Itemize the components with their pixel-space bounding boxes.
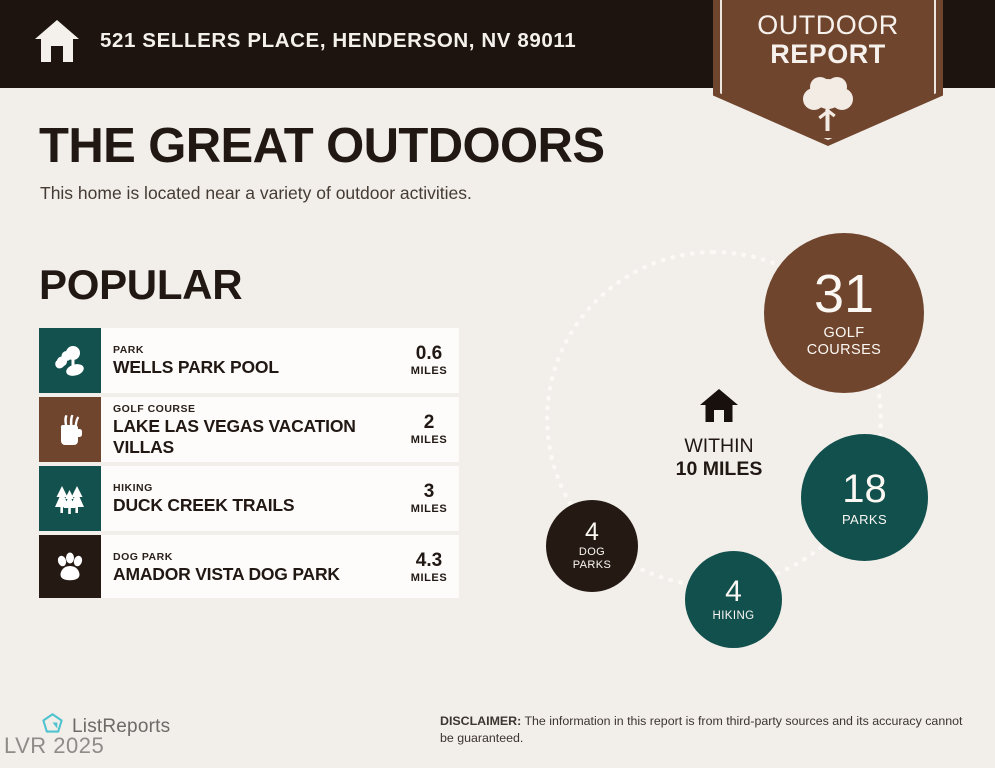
disclaimer-label: DISCLAIMER: bbox=[440, 714, 521, 728]
distance-unit: MILES bbox=[405, 433, 453, 447]
list-item-distance: 4.3 MILES bbox=[401, 550, 453, 585]
list-item-category: GOLF COURSE bbox=[113, 402, 401, 416]
distance-value: 3 bbox=[405, 481, 453, 502]
header-content: 521 SELLERS PLACE, HENDERSON, NV 89011 bbox=[33, 18, 576, 64]
bubble-dog-parks: 4 DOG PARKS bbox=[546, 500, 638, 592]
distance-unit: MILES bbox=[405, 364, 453, 378]
bubble-label-line1: HIKING bbox=[712, 609, 754, 623]
distance-unit: MILES bbox=[405, 571, 453, 585]
badge-title-line2: REPORT bbox=[713, 39, 943, 70]
bubble-parks: 18 PARKS bbox=[801, 434, 928, 561]
within-line2: 10 MILES bbox=[655, 458, 783, 481]
watermark-text: LVR 2025 bbox=[4, 733, 104, 759]
list-item-distance: 2 MILES bbox=[401, 412, 453, 447]
property-address: 521 SELLERS PLACE, HENDERSON, NV 89011 bbox=[100, 29, 576, 53]
golf-bag-icon bbox=[39, 397, 101, 462]
bubble-value: 4 bbox=[725, 577, 742, 607]
outdoor-report-badge: OUTDOOR REPORT bbox=[713, 0, 943, 146]
list-item[interactable]: DOG PARK AMADOR VISTA DOG PARK 4.3 MILES bbox=[39, 535, 459, 598]
bubble-value: 18 bbox=[842, 469, 887, 509]
disclaimer: DISCLAIMER: The information in this repo… bbox=[440, 713, 970, 747]
tree-icon bbox=[798, 74, 858, 137]
distance-value: 0.6 bbox=[405, 343, 453, 364]
list-item-category: DOG PARK bbox=[113, 550, 401, 564]
list-item-name: AMADOR VISTA DOG PARK bbox=[113, 564, 401, 585]
outdoor-report-page: 521 SELLERS PLACE, HENDERSON, NV 89011 O… bbox=[0, 0, 995, 768]
distance-value: 2 bbox=[405, 412, 453, 433]
badge-title-line1: OUTDOOR bbox=[713, 10, 943, 41]
bubble-label-line1: GOLF bbox=[823, 325, 864, 342]
park-tree-icon bbox=[39, 328, 101, 393]
bubble-label-line2: PARKS bbox=[573, 559, 611, 572]
distance-unit: MILES bbox=[405, 502, 453, 516]
list-item[interactable]: PARK WELLS PARK POOL 0.6 MILES bbox=[39, 328, 459, 393]
pine-trees-icon bbox=[39, 466, 101, 531]
bubble-label-line2: COURSES bbox=[807, 342, 882, 359]
list-item-distance: 0.6 MILES bbox=[401, 343, 453, 378]
popular-heading: POPULAR bbox=[39, 261, 242, 309]
bubble-golf-courses: 31 GOLF COURSES bbox=[764, 233, 924, 393]
page-subtitle: This home is located near a variety of o… bbox=[40, 183, 472, 204]
bubble-label-line1: DOG bbox=[579, 546, 605, 559]
bubble-hiking: 4 HIKING bbox=[685, 551, 782, 648]
list-item-category: HIKING bbox=[113, 481, 401, 495]
bubble-value: 31 bbox=[814, 267, 874, 321]
paw-print-icon bbox=[39, 535, 101, 598]
list-item-name: DUCK CREEK TRAILS bbox=[113, 495, 401, 516]
bubble-label-line1: PARKS bbox=[842, 512, 887, 527]
list-item[interactable]: HIKING DUCK CREEK TRAILS 3 MILES bbox=[39, 466, 459, 531]
home-icon bbox=[33, 18, 81, 64]
home-icon bbox=[655, 388, 783, 429]
list-item[interactable]: GOLF COURSE LAKE LAS VEGAS VACATION VILL… bbox=[39, 397, 459, 462]
list-item-name: WELLS PARK POOL bbox=[113, 357, 401, 378]
page-title: THE GREAT OUTDOORS bbox=[39, 118, 604, 174]
popular-list: PARK WELLS PARK POOL 0.6 MILES bbox=[39, 328, 459, 598]
list-item-name: LAKE LAS VEGAS VACATION VILLAS bbox=[113, 416, 401, 458]
list-item-category: PARK bbox=[113, 343, 401, 357]
within-line1: WITHIN bbox=[655, 435, 783, 458]
bubble-value: 4 bbox=[585, 520, 599, 545]
distance-value: 4.3 bbox=[405, 550, 453, 571]
list-item-distance: 3 MILES bbox=[401, 481, 453, 516]
within-radius-label: WITHIN 10 MILES bbox=[655, 388, 783, 481]
